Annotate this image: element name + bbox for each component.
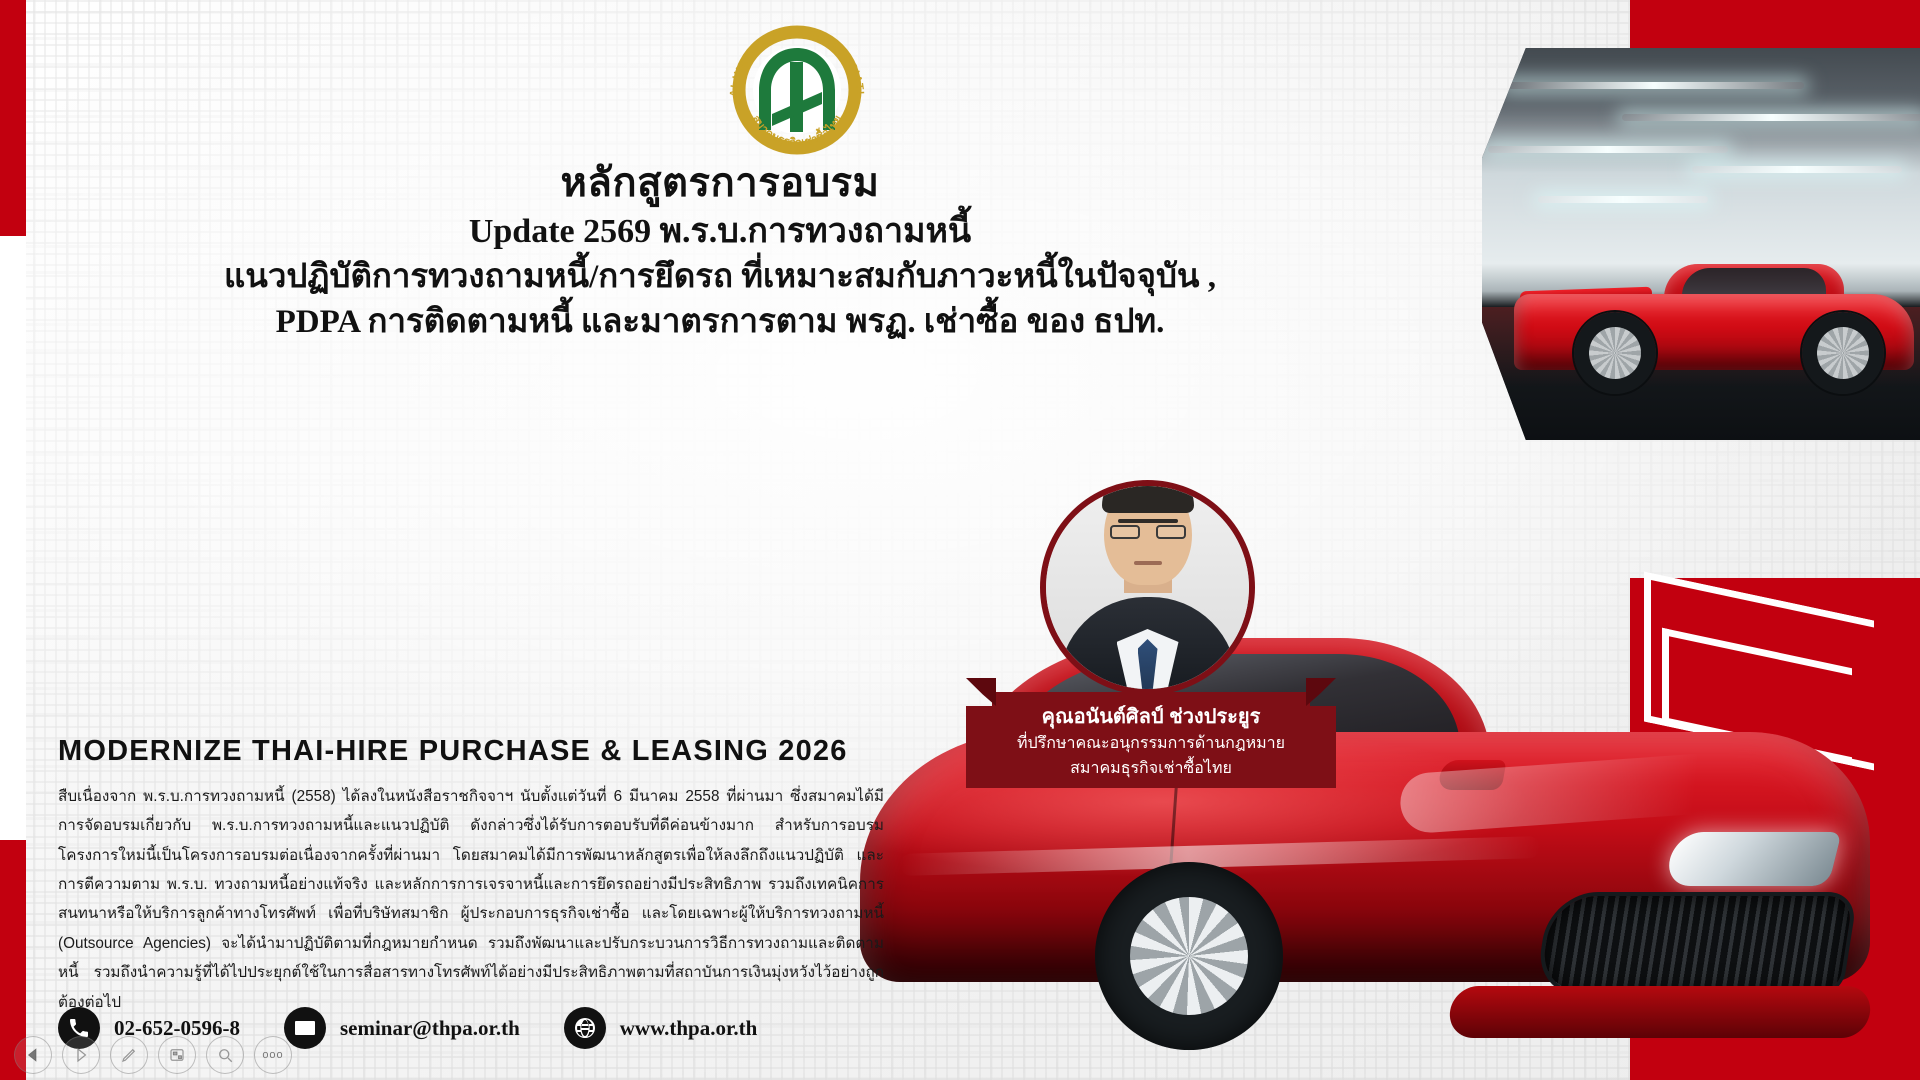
seminar-poster: THAI HIRE-PURCHASE ASSOCIATION สมาคมธุรก… xyxy=(0,0,1920,1080)
speaker-name-ribbon: คุณอนันต์ศิลป์ ช่วงประยูร ที่ปรึกษาคณะอน… xyxy=(992,692,1310,788)
viewer-toolbar[interactable]: ooo xyxy=(14,1036,292,1074)
title-line-3: แนวปฏิบัติการทวงถามหนี้/การยึดรถ ที่เหมา… xyxy=(140,256,1300,299)
speaker-role-line-1: ที่ปรึกษาคณะอนุกรรมการด้านกฎหมาย xyxy=(992,732,1310,757)
email-address: seminar@thpa.or.th xyxy=(340,1016,520,1041)
layout-icon[interactable] xyxy=(158,1036,196,1074)
red-ferrari-f40 xyxy=(1514,244,1914,394)
thpa-logo: THAI HIRE-PURCHASE ASSOCIATION สมาคมธุรก… xyxy=(717,18,877,163)
zoom-icon[interactable] xyxy=(206,1036,244,1074)
description-paragraph: สืบเนื่องจาก พ.ร.บ.การทวงถามหนี้ (2558) … xyxy=(58,782,884,1017)
more-icon[interactable]: ooo xyxy=(254,1036,292,1074)
speaker-portrait xyxy=(1040,480,1255,695)
speaker-name: คุณอนันต์ศิลป์ ช่วงประยูร xyxy=(992,702,1310,732)
sports-car-photo xyxy=(1482,48,1920,440)
speaker-role-line-2: สมาคมธุรกิจเช่าซื้อไทย xyxy=(992,757,1310,782)
title-line-2: Update 2569 พ.ร.บ.การทวงถามหนี้ xyxy=(140,210,1300,254)
previous-icon[interactable] xyxy=(14,1036,52,1074)
contact-website[interactable]: www.thpa.or.th xyxy=(564,1007,758,1049)
more-dots: ooo xyxy=(262,1049,283,1061)
ribbon-tail-right xyxy=(1310,706,1336,788)
edit-icon[interactable] xyxy=(110,1036,148,1074)
globe-icon xyxy=(564,1007,606,1049)
play-icon[interactable] xyxy=(62,1036,100,1074)
left-strip-white-gap xyxy=(0,236,26,840)
top-right-red-block xyxy=(1630,0,1920,48)
red-sedan-photo xyxy=(840,610,1920,1080)
title-line-1: หลักสูตรการอบรม xyxy=(140,160,1300,206)
title-line-4: PDPA การติดตามหนี้ และมาตรการตาม พรฏ. เช… xyxy=(140,301,1300,344)
website-url: www.thpa.or.th xyxy=(620,1016,758,1041)
ribbon-tail-left xyxy=(966,706,992,788)
course-title-block: หลักสูตรการอบรม Update 2569 พ.ร.บ.การทวง… xyxy=(140,160,1300,344)
contact-email[interactable]: seminar@thpa.or.th xyxy=(284,1007,520,1049)
english-headline: MODERNIZE THAI-HIRE PURCHASE & LEASING 2… xyxy=(58,735,888,768)
